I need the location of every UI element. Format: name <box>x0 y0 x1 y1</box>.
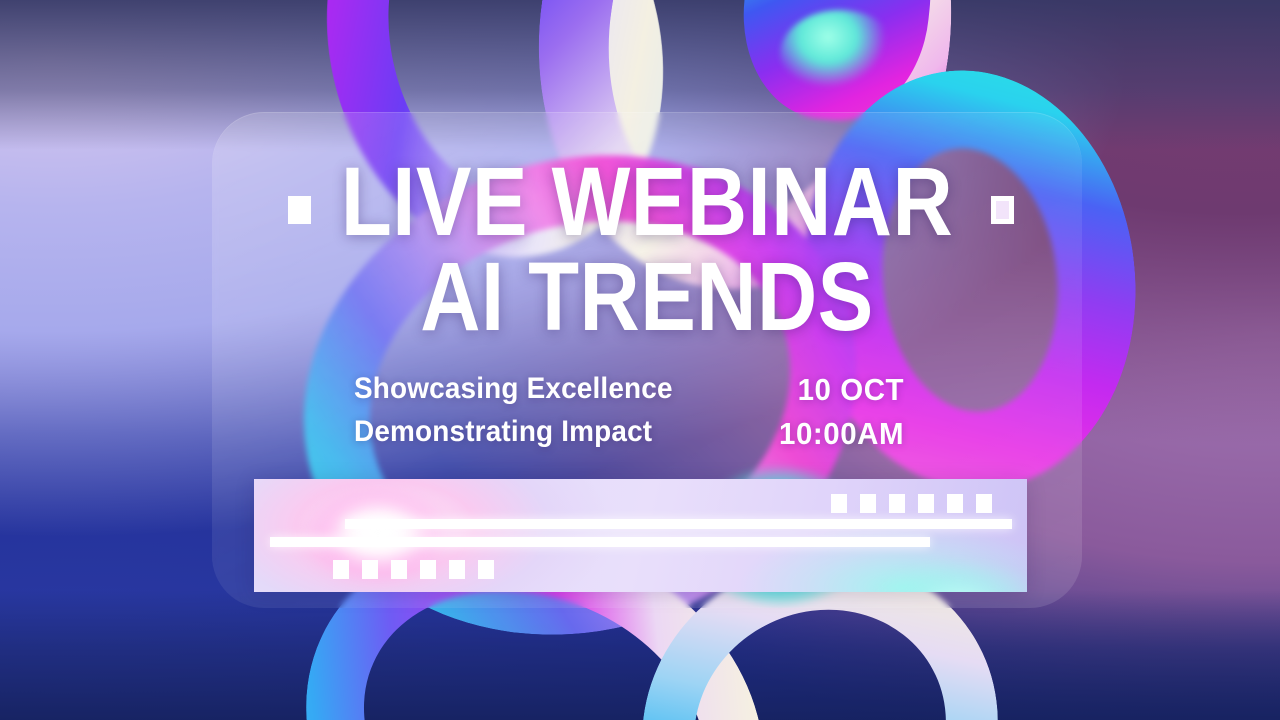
dot-row-top-right <box>831 494 992 513</box>
dot-marker <box>420 560 436 579</box>
dot-marker <box>831 494 847 513</box>
square-marker-left-icon <box>288 196 311 224</box>
dot-marker <box>333 560 349 579</box>
dot-marker <box>391 560 407 579</box>
dot-row-bottom-left <box>333 560 494 579</box>
square-marker-right-icon <box>991 196 1014 224</box>
dot-marker <box>362 560 378 579</box>
divider-bar-upper <box>345 519 1012 529</box>
dot-marker <box>947 494 963 513</box>
dot-marker <box>918 494 934 513</box>
dot-marker <box>449 560 465 579</box>
dot-marker <box>860 494 876 513</box>
ribbon-highlight-top-right <box>780 10 900 100</box>
dot-marker <box>889 494 905 513</box>
poster-canvas: LIVE WEBINAR AI TRENDS Showcasing Excell… <box>0 0 1280 720</box>
bottom-panel <box>254 479 1027 592</box>
dot-marker <box>478 560 494 579</box>
dot-marker <box>976 494 992 513</box>
divider-bar-lower <box>270 537 930 547</box>
